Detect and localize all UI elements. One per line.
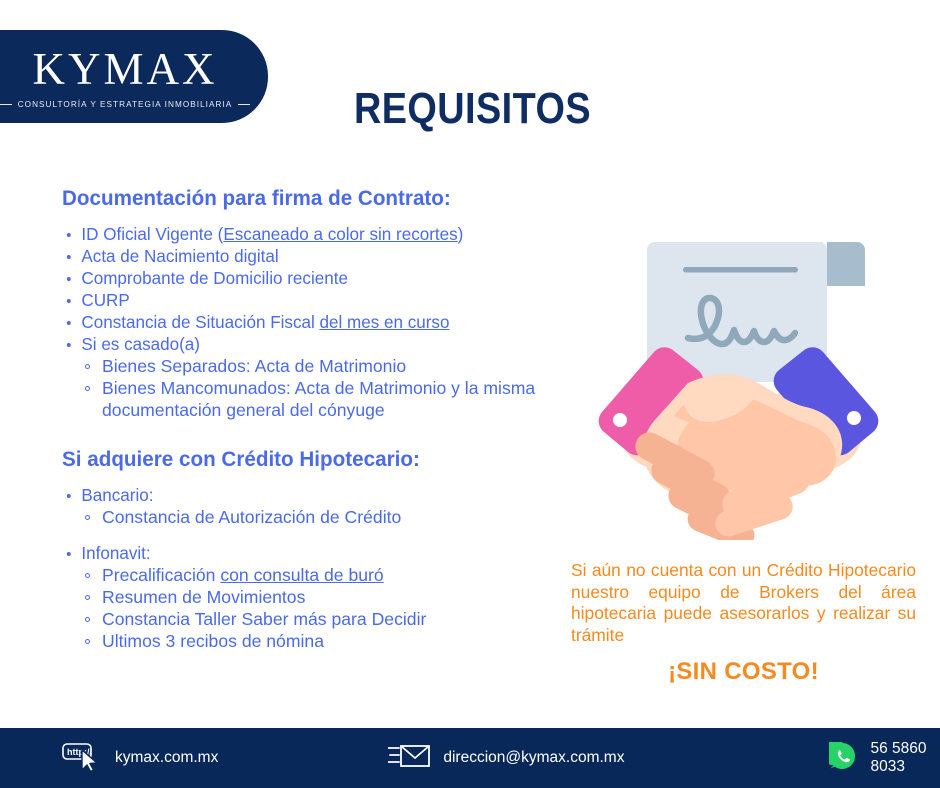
list-infonavit: Infonavit: [62,542,562,564]
website-url-cursor-icon: http:// [62,740,102,777]
footer-phone[interactable]: 56 5860 8033 [829,740,940,776]
tagline-rule-right [238,104,250,105]
list-subitem: Constancia Taller Saber más para Decidir [80,608,562,630]
envelope-icon [388,743,430,774]
whatsapp-icon [829,742,857,775]
brand-tagline-row: CONSULTORÍA Y ESTRATEGIA INMOBILIARIA [0,100,250,109]
list-item: Bancario: [62,484,547,506]
item-text: Precalificación [102,565,220,585]
list-item: Infonavit: [62,542,547,564]
footer-website[interactable]: http:// kymax.com.mx [62,740,218,777]
promo-paragraph: Si aún no cuenta con un Crédito Hipoteca… [571,560,916,646]
list-item: Si es casado(a) [62,333,547,355]
promo-highlight: ¡SIN COSTO! [571,658,916,686]
footer-bar: http:// kymax.com.mx direccion@kymax.com… [0,728,940,788]
list-item: Constancia de Situación Fiscal del mes e… [62,311,547,333]
item-text: Si es casado(a) [81,334,200,354]
list-item: Acta de Nacimiento digital [62,245,547,267]
footer-email[interactable]: direccion@kymax.com.mx [388,743,624,774]
brand-logo-badge: KYMAX CONSULTORÍA Y ESTRATEGIA INMOBILIA… [0,30,268,123]
item-text: Acta de Nacimiento digital [81,246,278,266]
list-documentacion-contrato: ID Oficial Vigente (Escaneado a color si… [62,223,562,355]
brand-wordmark: KYMAX [0,46,250,93]
brand-tagline: CONSULTORÍA Y ESTRATEGIA INMOBILIARIA [18,100,233,109]
list-subitem: Ultimos 3 recibos de nómina [80,630,562,652]
list-item: Comprobante de Domicilio reciente [62,267,547,289]
promo-block: Si aún no cuenta con un Crédito Hipoteca… [571,560,916,686]
list-item: CURP [62,289,547,311]
list-subitem: Constancia de Autorización de Crédito [80,506,562,528]
list-casado-subitems: Bienes Separados: Acta de Matrimonio Bie… [62,355,562,421]
item-underlined: con consulta de buró [220,565,383,585]
section-heading-contrato: Documentación para firma de Contrato: [62,186,542,211]
section-spacer [62,421,562,447]
handshake-illustration [570,220,910,540]
footer-phone-label: 56 5860 8033 [870,740,940,776]
list-subitem: Resumen de Movimientos [80,586,562,608]
list-bancario-subitems: Constancia de Autorización de Crédito [62,506,562,528]
list-infonavit-subitems: Precalificación con consulta de buró Res… [62,564,562,652]
footer-website-label: kymax.com.mx [115,749,218,767]
item-text-after: ) [458,224,464,244]
tagline-rule-left [0,104,12,105]
section-heading-credito: Si adquiere con Crédito Hipotecario: [62,447,542,472]
group-spacer [62,528,562,542]
item-text: ID Oficial Vigente ( [81,224,223,244]
list-item: ID Oficial Vigente (Escaneado a color si… [62,223,547,245]
item-text: Constancia de Situación Fiscal [81,312,319,332]
item-text: Comprobante de Domicilio reciente [81,268,348,288]
item-text: CURP [81,290,129,310]
list-subitem: Precalificación con consulta de buró [80,564,562,586]
item-underlined: Escaneado a color sin recortes [223,224,457,244]
item-underlined: del mes en curso [320,312,450,332]
list-subitem: Bienes Mancomunados: Acta de Matrimonio … [80,377,562,421]
requirements-content: Documentación para firma de Contrato: ID… [62,186,562,652]
list-bancario: Bancario: [62,484,562,506]
list-subitem: Bienes Separados: Acta de Matrimonio [80,355,562,377]
page-title: REQUISITOS [324,84,621,134]
footer-email-label: direccion@kymax.com.mx [443,749,624,767]
